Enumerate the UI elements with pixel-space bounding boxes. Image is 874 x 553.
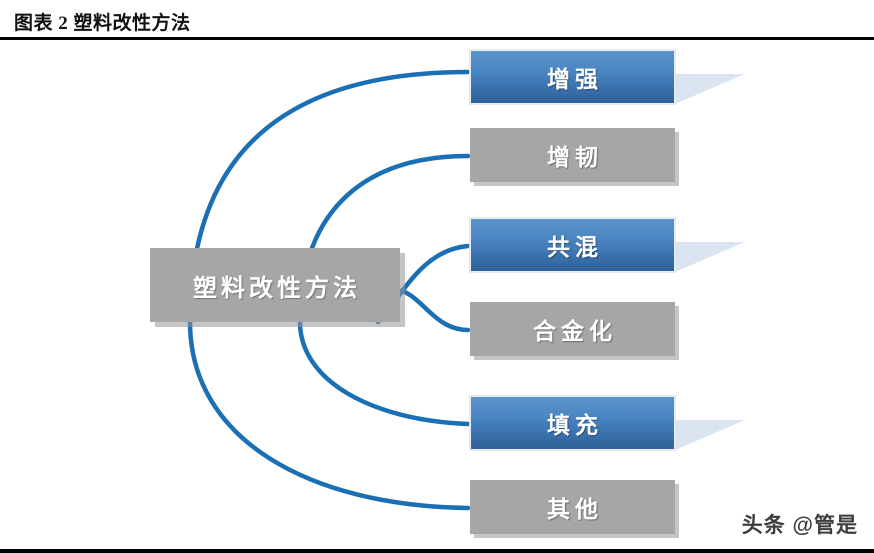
node-label: 合金化 <box>528 312 617 346</box>
connector-to-合金化 <box>395 290 468 330</box>
node-0[interactable]: 增强 <box>470 50 675 104</box>
watermark: 头条 @管是 <box>742 509 858 539</box>
node-label: 增韧 <box>542 138 603 172</box>
connector-to-其他 <box>190 322 468 508</box>
center-node[interactable]: 塑料改性方法 <box>150 248 400 322</box>
node-label: 填充 <box>542 406 603 440</box>
node-wedge-0 <box>675 74 745 104</box>
title-divider <box>0 37 874 40</box>
connector-to-填充 <box>300 322 468 424</box>
center-node-label: 塑料改性方法 <box>189 268 361 303</box>
node-5[interactable]: 其他 <box>470 480 675 534</box>
bottom-divider <box>0 549 874 553</box>
node-2[interactable]: 共混 <box>470 218 675 272</box>
node-label: 共混 <box>542 228 603 262</box>
node-wedge-4 <box>675 420 745 450</box>
node-label: 增强 <box>542 60 603 94</box>
page-title: 图表 2 塑料改性方法 <box>14 8 191 35</box>
node-3[interactable]: 合金化 <box>470 302 675 356</box>
node-1[interactable]: 增韧 <box>470 128 675 182</box>
node-wedge-2 <box>675 242 745 272</box>
node-4[interactable]: 填充 <box>470 396 675 450</box>
node-label: 其他 <box>542 490 603 524</box>
